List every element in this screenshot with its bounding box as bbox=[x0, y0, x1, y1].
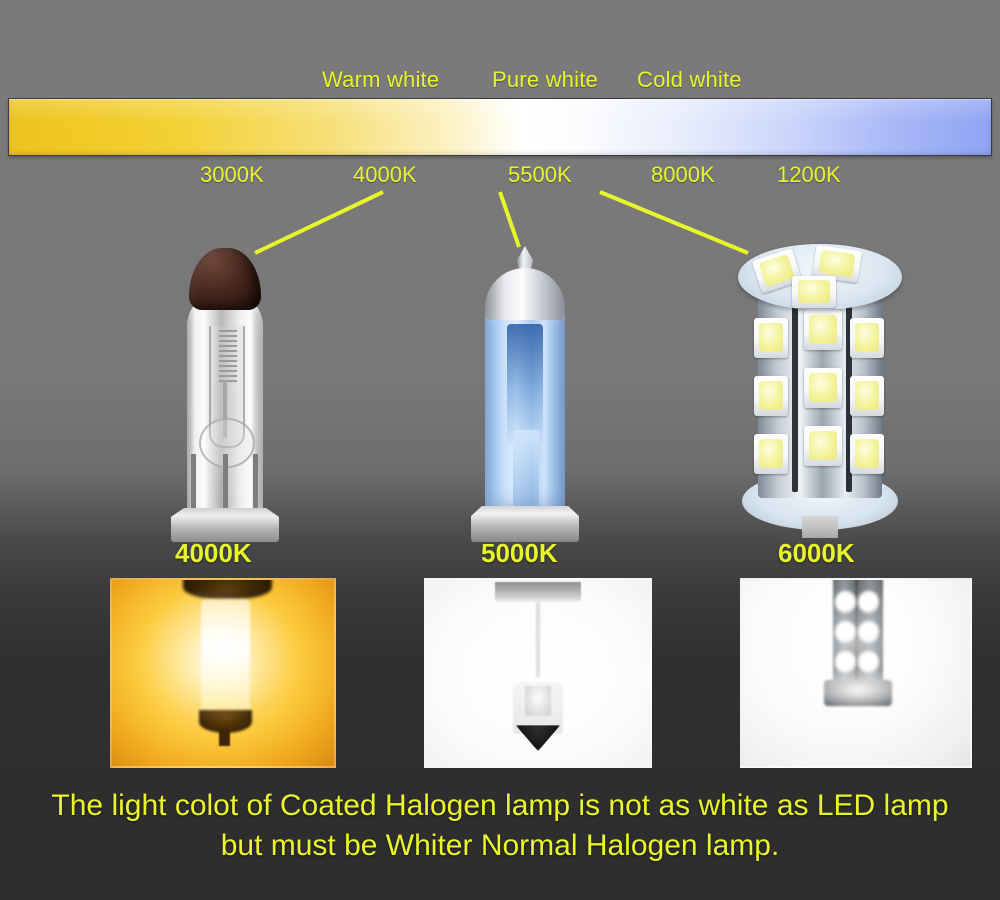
photo1-light-halo bbox=[112, 580, 334, 766]
kelvin-tick-8000k: 8000K bbox=[651, 162, 715, 188]
halogen-lead-left bbox=[191, 454, 196, 512]
led-chip bbox=[804, 426, 842, 466]
bulb-halogen-blue bbox=[410, 240, 640, 540]
blue-bulb-metal-base bbox=[471, 506, 579, 542]
blue-bulb-chrome-dome bbox=[485, 268, 565, 320]
halogen-metal-base bbox=[171, 508, 279, 542]
bulb-caption-4000k: 4000K bbox=[175, 538, 252, 569]
kelvin-tick-3000k: 3000K bbox=[200, 162, 264, 188]
kelvin-tick-4000k: 4000K bbox=[353, 162, 417, 188]
label-cold-white: Cold white bbox=[637, 67, 742, 93]
halogen-lead-right bbox=[253, 454, 258, 512]
label-warm-white: Warm white bbox=[322, 67, 439, 93]
halogen-filament-coil bbox=[219, 330, 237, 382]
halogen-bulb-icon bbox=[165, 240, 285, 540]
blue-bulb-filament-upper bbox=[507, 324, 543, 444]
summary-caption: The light colot of Coated Halogen lamp i… bbox=[0, 786, 1000, 866]
halogen-brown-tip bbox=[189, 248, 261, 310]
photo3-light-wash bbox=[742, 580, 970, 766]
label-pure-white: Pure white bbox=[492, 67, 598, 93]
halogen-lead-mid bbox=[223, 454, 228, 512]
pointer-line-5500k bbox=[500, 192, 519, 247]
photo2-lamp-stem bbox=[536, 602, 540, 676]
kelvin-tick-1200k: 1200K bbox=[777, 162, 841, 188]
bulb-halogen-coated bbox=[110, 240, 340, 540]
color-temperature-gradient-bar bbox=[8, 98, 992, 156]
led-chip bbox=[850, 434, 884, 474]
blue-bulb-filament-lower bbox=[513, 430, 539, 510]
led-chip bbox=[754, 318, 788, 358]
bar-gloss-highlight bbox=[9, 99, 991, 123]
bulb-led-tower bbox=[705, 240, 935, 540]
warm-halogen-photo bbox=[110, 578, 336, 768]
led-chip bbox=[804, 310, 842, 350]
led-chip bbox=[804, 368, 842, 408]
summary-caption-line2: but must be Whiter Normal Halogen lamp. bbox=[0, 826, 1000, 866]
led-chip bbox=[792, 276, 836, 308]
led-chip bbox=[754, 434, 788, 474]
led-chip bbox=[754, 376, 788, 416]
summary-caption-line1: The light colot of Coated Halogen lamp i… bbox=[51, 789, 948, 822]
led-chip bbox=[850, 376, 884, 416]
blue-halogen-bulb-icon bbox=[465, 240, 585, 540]
photo2-lamp-tip bbox=[516, 725, 561, 751]
led-column-gap-left bbox=[792, 294, 798, 492]
led-chip bbox=[850, 318, 884, 358]
bulb-caption-5000k: 5000K bbox=[481, 538, 558, 569]
photo2-lamp-cap bbox=[495, 582, 580, 602]
pure-white-photo bbox=[424, 578, 652, 768]
cold-white-led-photo bbox=[740, 578, 972, 768]
kelvin-tick-5500k: 5500K bbox=[508, 162, 572, 188]
bulb-caption-6000k: 6000K bbox=[778, 538, 855, 569]
color-temperature-infographic: Warm white Pure white Cold white 3000K 4… bbox=[0, 0, 1000, 900]
led-base-stem bbox=[802, 516, 838, 538]
led-bulb-icon bbox=[730, 244, 910, 534]
photo2-filament-glow bbox=[525, 686, 552, 716]
